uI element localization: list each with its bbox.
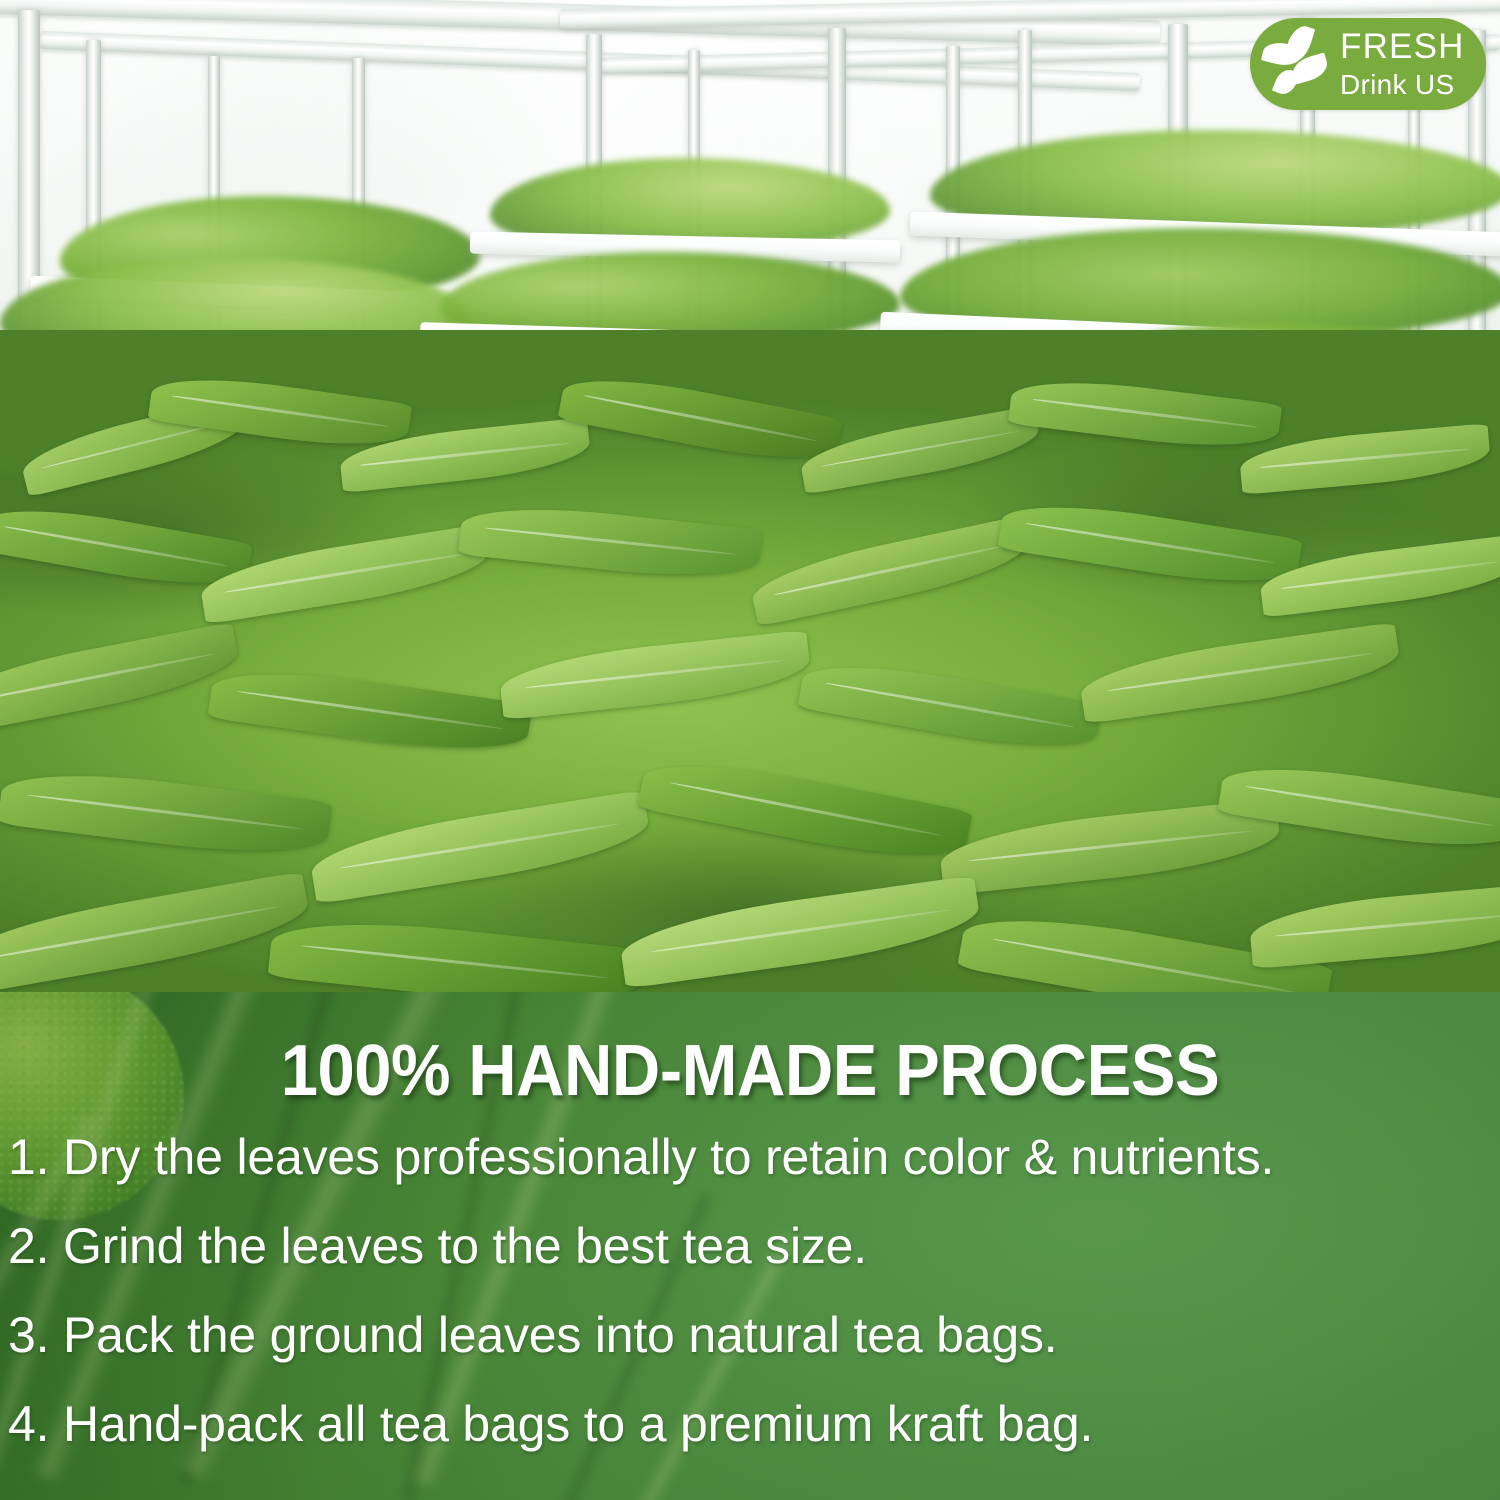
tea-leaf (0, 871, 313, 992)
tea-leaf (637, 749, 972, 871)
tea-leaf (197, 524, 492, 625)
tea-leaf (997, 493, 1302, 595)
tea-leaf (307, 790, 653, 904)
list-item: 4. Hand-pack all tea bags to a premium k… (8, 1399, 1500, 1449)
process-panel: 100% HAND-MADE PROCESS 1. Dry the leaves… (0, 992, 1500, 1500)
logo-wordmark: FRESH Drink US (1340, 29, 1465, 99)
logo-line-drink-us: Drink US (1340, 71, 1465, 99)
tea-leaf (557, 366, 842, 472)
tea-leaf (0, 762, 333, 864)
fresh-drink-us-logo[interactable]: FRESH Drink US (1250, 18, 1486, 110)
foreground-leaf-pile (0, 330, 1500, 992)
greenhouse-drying-photo: FRESH Drink US (0, 0, 1500, 992)
page-title: 100% HAND-MADE PROCESS (53, 1030, 1448, 1112)
tea-leaf (1248, 883, 1500, 969)
product-infographic: FRESH Drink US 100% HAND-MADE PROCESS 1.… (0, 0, 1500, 1500)
process-steps-list: 1. Dry the leaves professionally to reta… (8, 1132, 1500, 1488)
tea-leaf (458, 498, 762, 585)
tea-leaf (1078, 622, 1403, 724)
tea-leaf (617, 875, 982, 988)
tea-leaf (747, 515, 1032, 626)
tea-leaf (268, 911, 643, 992)
logo-line-fresh: FRESH (1340, 29, 1465, 64)
tea-leaf (208, 660, 533, 762)
tea-leaf (797, 652, 1102, 759)
list-item: 1. Dry the leaves professionally to reta… (8, 1132, 1500, 1182)
tea-leaf (1008, 372, 1282, 457)
four-leaf-icon (1262, 27, 1336, 101)
list-item: 3. Pack the ground leaves into natural t… (8, 1310, 1500, 1360)
list-item: 2. Grind the leaves to the best tea size… (8, 1221, 1500, 1271)
tea-leaf (0, 622, 243, 736)
tea-leaf (498, 630, 812, 720)
